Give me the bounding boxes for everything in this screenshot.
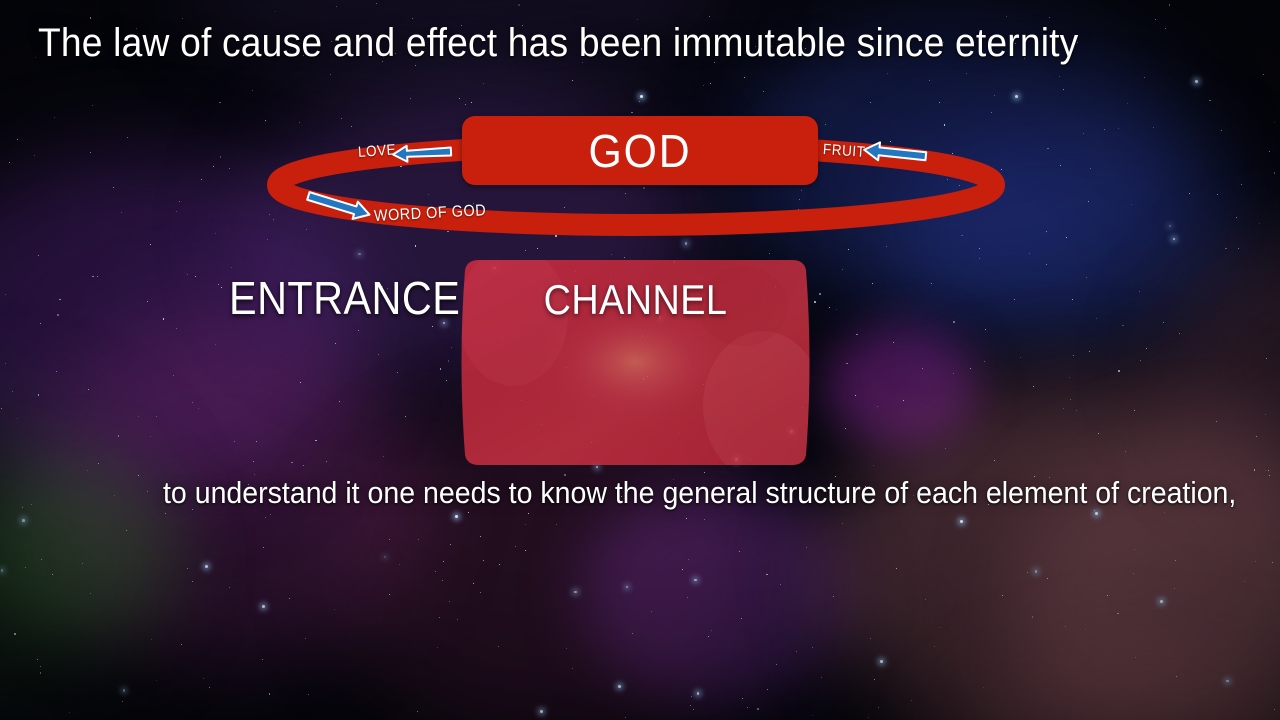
god-box-label: GOD	[474, 124, 805, 178]
god-box: GOD	[462, 116, 818, 185]
slide-canvas: The law of cause and effect has been imm…	[0, 0, 1280, 720]
fruit-arrow-left-icon	[862, 141, 928, 165]
slide-caption: to understand it one needs to know the g…	[163, 475, 1236, 511]
channel-label: CHANNEL	[462, 276, 809, 324]
ring-label-fruit: FRUIT	[822, 141, 866, 161]
channel-shape: CHANNEL	[443, 256, 828, 469]
word-of-god-arrow-right-icon	[303, 190, 373, 220]
entrance-label: ENTRANCE	[229, 271, 460, 325]
love-arrow-left-icon	[391, 142, 453, 164]
slide-title: The law of cause and effect has been imm…	[38, 21, 1078, 66]
